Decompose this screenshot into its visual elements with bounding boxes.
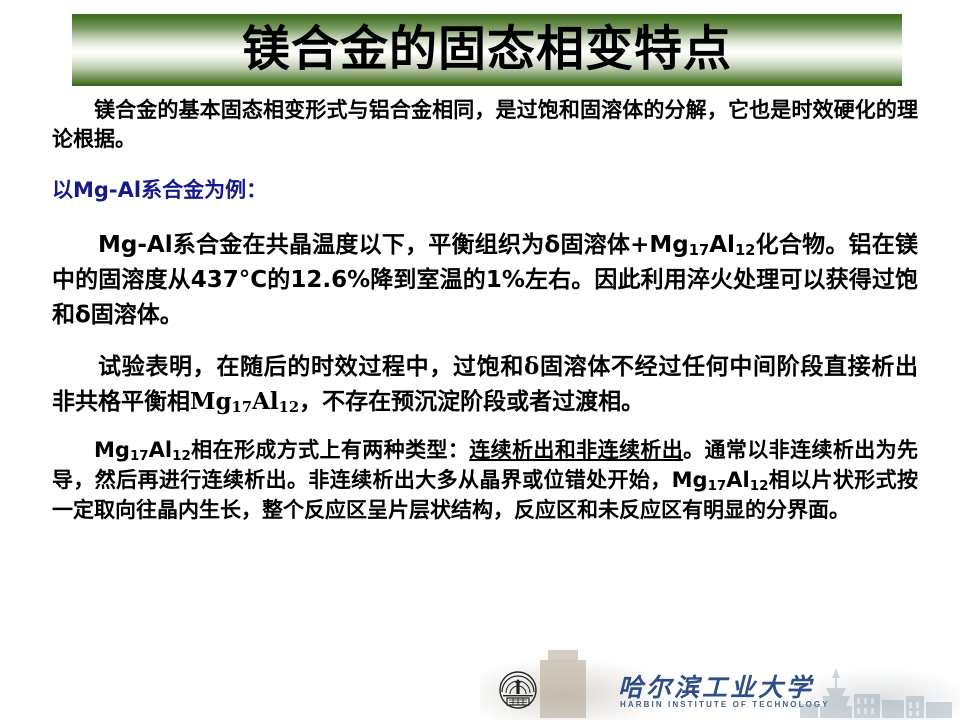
text-run: Mg (94, 438, 130, 462)
paragraph-aging: 试验表明，在随后的时效过程中，过饱和δ固溶体不经过任何中间阶段直接析出非共格平衡… (52, 349, 918, 419)
hit-emblem-icon (498, 670, 538, 710)
footer-logo: 哈尔滨工业大学 HARBIN INSTITUTE OF TECHNOLOGY (480, 648, 960, 720)
title-banner: 镁合金的固态相变特点 (72, 14, 902, 86)
text-run: Al (726, 468, 749, 492)
text-run: 相在形成方式上有两种类型： (191, 438, 469, 462)
subscript-17: 17 (232, 399, 252, 416)
subscript-12: 12 (172, 449, 191, 464)
campus-skyline-graphic (796, 664, 956, 718)
subscript-17: 17 (708, 479, 727, 494)
paragraph-precipitation-types: Mg17Al12相在形成方式上有两种类型：连续析出和非连续析出。通常以非连续析出… (52, 435, 918, 525)
subscript-12: 12 (279, 399, 299, 416)
paragraph-blue-heading: 以Mg-Al系合金为例： (52, 176, 918, 204)
text-run: Mg-Al系合金在共晶温度以下，平衡组织为δ固溶体+Mg (98, 232, 689, 258)
subscript-12: 12 (735, 242, 755, 259)
page-title: 镁合金的固态相变特点 (72, 14, 902, 86)
emphasis-underlined: 连续析出和非连续析出 (469, 438, 683, 462)
text-run: Al (252, 388, 279, 415)
university-name-cn: 哈尔滨工业大学 (618, 668, 814, 704)
campus-building-graphic (540, 660, 586, 718)
text-run: Al (709, 232, 735, 258)
text-run: Al (149, 438, 172, 462)
paragraph-equilibrium: Mg-Al系合金在共晶温度以下，平衡组织为δ固溶体+Mg17Al12化合物。铝在… (52, 228, 918, 333)
slide-canvas: 镁合金的固态相变特点 镁合金的基本固态相变形式与铝合金相同，是过饱和固溶体的分解… (0, 0, 960, 720)
subscript-12: 12 (750, 479, 769, 494)
text-run: ，不存在预沉淀阶段或者过渡相。 (299, 388, 644, 415)
paragraph-intro: 镁合金的基本固态相变形式与铝合金相同，是过饱和固溶体的分解，它也是时效硬化的理论… (52, 96, 918, 154)
slide-body: 镁合金的基本固态相变形式与铝合金相同，是过饱和固溶体的分解，它也是时效硬化的理论… (52, 96, 918, 525)
subscript-17: 17 (689, 242, 709, 259)
subscript-17: 17 (130, 449, 149, 464)
